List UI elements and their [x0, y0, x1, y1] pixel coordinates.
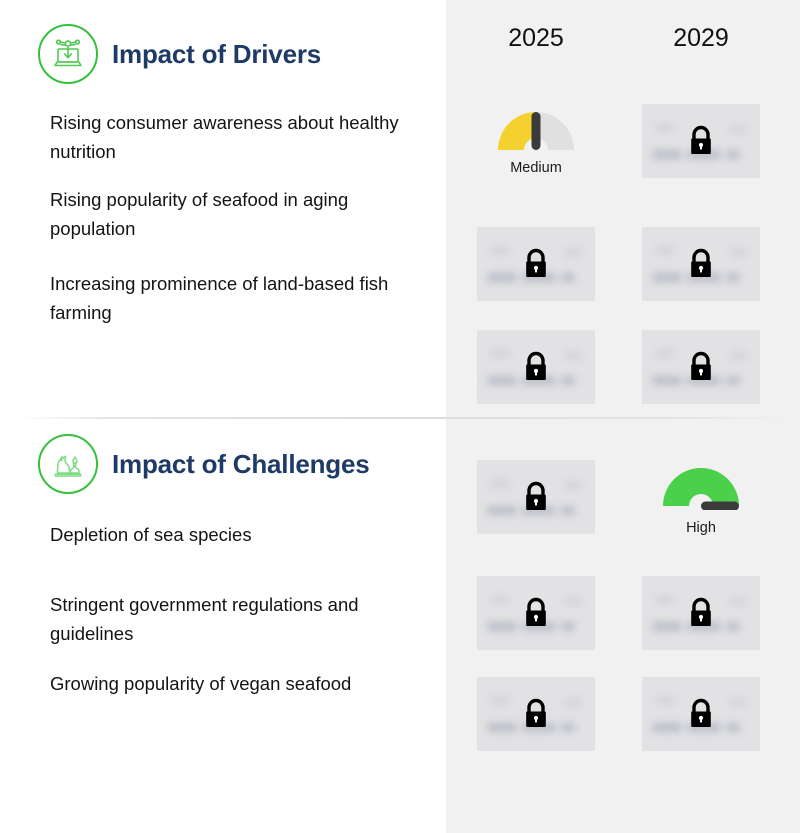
section-title-drivers: Impact of Drivers: [112, 39, 321, 70]
rating-cell-drivers-2-2029[interactable]: [642, 330, 760, 404]
lock-icon: [642, 677, 760, 751]
locked-tile[interactable]: [642, 104, 760, 178]
rating-cell-drivers-2-2025[interactable]: [477, 330, 595, 404]
challenge-item-0: Depletion of sea species: [50, 520, 422, 549]
lock-icon: [642, 576, 760, 650]
lock-icon: [477, 227, 595, 301]
lock-icon: [477, 460, 595, 534]
locked-tile[interactable]: [477, 330, 595, 404]
rating-cell-challenges-1-2025[interactable]: [477, 576, 595, 650]
items-column: Impact of Drivers Rising consumer awaren…: [0, 0, 446, 833]
rating-cell-drivers-1-2025[interactable]: [477, 227, 595, 301]
impact-matrix-page: 2025 2029: [0, 0, 800, 833]
gauge-label-high: High: [642, 520, 760, 536]
rating-cell-challenges-1-2029[interactable]: [642, 576, 760, 650]
lock-icon: [477, 330, 595, 404]
section-title-challenges: Impact of Challenges: [112, 449, 370, 480]
gauge-label-medium: Medium: [477, 160, 595, 176]
column-header-2029: 2029: [641, 24, 761, 53]
locked-tile[interactable]: [642, 227, 760, 301]
locked-tile[interactable]: [477, 460, 595, 534]
gauge-medium: Medium: [477, 104, 595, 178]
rating-cell-drivers-1-2029[interactable]: [642, 227, 760, 301]
rating-cell-challenges-0-2025[interactable]: [477, 460, 595, 534]
locked-tile[interactable]: [477, 576, 595, 650]
section-header-drivers: Impact of Drivers: [38, 24, 321, 84]
rating-cell-drivers-0-2029[interactable]: [642, 104, 760, 178]
lock-icon: [477, 677, 595, 751]
gauge-arc: [659, 462, 743, 510]
column-header-2025: 2025: [476, 24, 596, 53]
rating-cell-challenges-2-2025[interactable]: [477, 677, 595, 751]
chess-pieces-icon: [38, 434, 98, 494]
section-header-challenges: Impact of Challenges: [38, 434, 370, 494]
rating-cell-drivers-0-2025[interactable]: Medium: [477, 104, 595, 178]
driver-item-2: Increasing prominence of land-based fish…: [50, 269, 422, 327]
locked-tile[interactable]: [642, 576, 760, 650]
locked-tile[interactable]: [477, 227, 595, 301]
rating-cell-challenges-2-2029[interactable]: [642, 677, 760, 751]
rating-cell-challenges-0-2029[interactable]: High: [642, 460, 760, 534]
lock-icon: [477, 576, 595, 650]
lock-icon: [642, 227, 760, 301]
locked-tile[interactable]: [642, 677, 760, 751]
challenge-item-1: Stringent government regulations and gui…: [50, 590, 422, 648]
locked-tile[interactable]: [642, 330, 760, 404]
gauge-high: High: [642, 460, 760, 534]
market-drivers-icon: [38, 24, 98, 84]
lock-icon: [642, 104, 760, 178]
locked-tile[interactable]: [477, 677, 595, 751]
gauge-arc: [494, 106, 578, 154]
lock-icon: [642, 330, 760, 404]
driver-item-1: Rising popularity of seafood in aging po…: [50, 185, 422, 243]
driver-item-0: Rising consumer awareness about healthy …: [50, 108, 422, 166]
challenge-item-2: Growing popularity of vegan seafood: [50, 669, 422, 698]
